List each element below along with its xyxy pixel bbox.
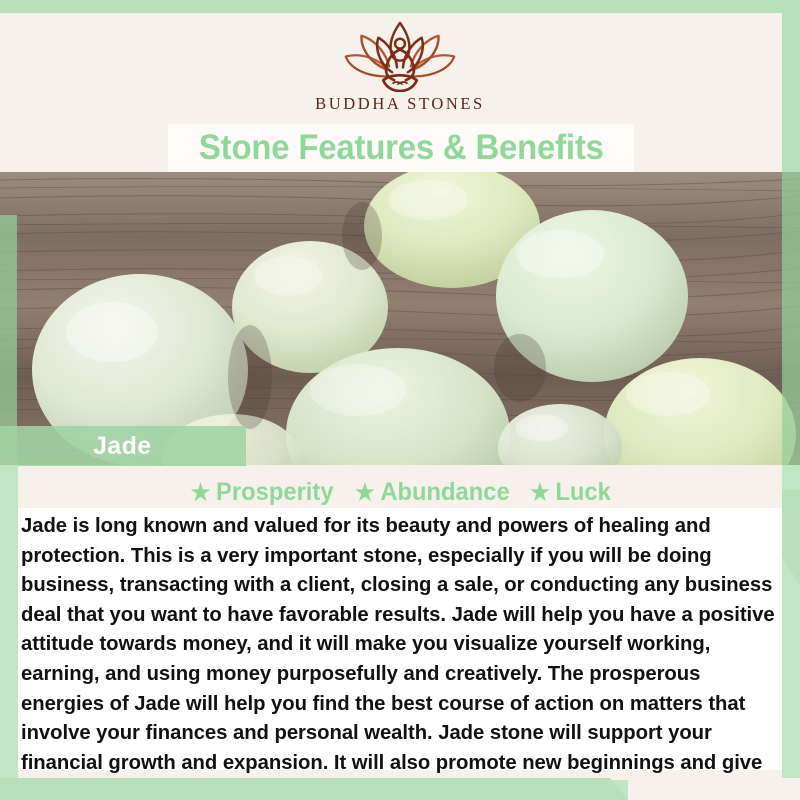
left-green-strip — [0, 465, 18, 800]
page-title: Stone Features & Benefits — [199, 128, 604, 168]
stone-info-poster: Jade ★ Prosperity ★ Abundance ★ Luck Jad… — [0, 0, 800, 800]
stone-name-label: Jade — [93, 432, 152, 461]
keyword-label: Abundance — [381, 478, 510, 507]
bottom-green-bar — [0, 778, 628, 800]
keyword-abundance: ★ Abundance — [355, 478, 510, 507]
benefit-keywords: ★ Prosperity ★ Abundance ★ Luck — [18, 477, 782, 508]
keyword-luck: ★ Luck — [530, 478, 611, 507]
keyword-label: Luck — [555, 478, 610, 507]
star-icon: ★ — [355, 481, 375, 504]
brand-logo: BUDDHA STONES — [0, 18, 800, 118]
title-band: Stone Features & Benefits — [168, 124, 634, 172]
stone-description-paragraph: Jade is long known and valued for its be… — [21, 511, 779, 800]
stone-name-band: Jade — [0, 426, 246, 466]
star-icon: ★ — [530, 481, 550, 504]
bottom-right-filler — [628, 778, 800, 800]
top-green-border — [0, 0, 800, 13]
keyword-label: Prosperity — [216, 478, 333, 507]
brand-name: BUDDHA STONES — [315, 94, 485, 114]
star-icon: ★ — [191, 481, 211, 504]
keyword-prosperity: ★ Prosperity — [191, 478, 334, 507]
jade-stones-photo — [0, 172, 800, 465]
photo-right-green-overlay — [782, 172, 800, 465]
lotus-meditation-icon — [340, 18, 460, 92]
